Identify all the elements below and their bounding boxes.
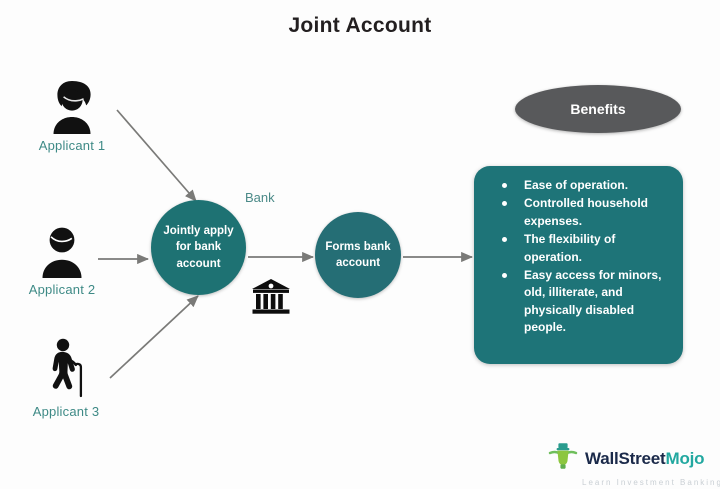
wallstreetmojo-watermark: WallStreetMojo [548,441,704,476]
bank-building-icon [251,278,291,321]
benefits-box: Ease of operation. Controlled household … [474,166,683,364]
benefit-item-text: Controlled household expenses. [524,196,648,227]
person-elderly-cane-icon [6,338,126,400]
bullet-icon [502,183,507,188]
applicant-3-label: Applicant 3 [6,404,126,419]
benefit-item: Controlled household expenses. [482,195,673,230]
benefit-item: Ease of operation. [482,177,673,194]
person-female-icon [12,72,132,134]
diagram-canvas: Joint Account Applicant 1 Applicant 2 [0,0,720,489]
benefit-item-text: Easy access for minors, old, illiterate,… [524,268,661,334]
page-title: Joint Account [0,14,720,38]
benefits-heading-badge: Benefits [515,85,681,133]
bull-mascot-icon [548,441,578,476]
applicant-1-group: Applicant 1 [12,72,132,153]
applicant-1-label: Applicant 1 [12,138,132,153]
bullet-icon [502,273,507,278]
process-step-forms-account[interactable]: Forms bank account [315,212,401,298]
benefits-list: Ease of operation. Controlled household … [482,177,673,337]
watermark-brand-part2: Mojo [666,449,705,468]
applicant-3-group: Applicant 3 [6,338,126,419]
bullet-icon [502,201,507,206]
benefit-item: Easy access for minors, old, illiterate,… [482,267,673,337]
watermark-brand-part1: WallStreet [585,449,666,468]
bank-label: Bank [245,190,275,205]
benefit-item-text: Ease of operation. [524,178,628,192]
applicant-2-label: Applicant 2 [2,282,122,297]
bullet-icon [502,237,507,242]
benefit-item: The flexibility of operation. [482,231,673,266]
watermark-brand: WallStreetMojo [585,449,704,469]
person-male-icon [2,216,122,278]
process-step-jointly-apply[interactable]: Jointly apply for bank account [151,200,246,295]
watermark-tagline: Learn Investment Banking [582,478,720,487]
benefit-item-text: The flexibility of operation. [524,232,615,263]
applicant-2-group: Applicant 2 [2,216,122,297]
